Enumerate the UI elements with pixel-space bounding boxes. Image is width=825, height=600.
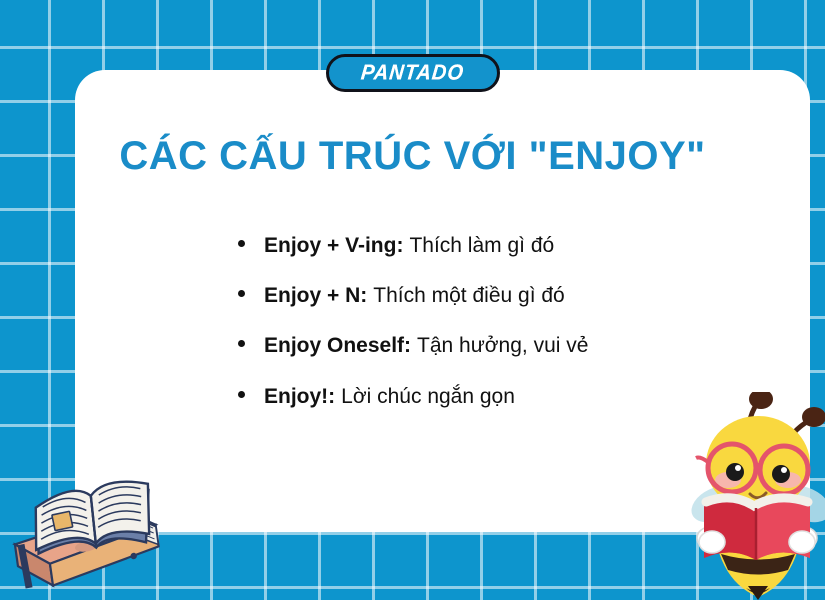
page-title: CÁC CẤU TRÚC VỚI "ENJOY"	[0, 134, 825, 179]
pantado-logo-badge[interactable]: PANTADO	[326, 54, 500, 92]
list-item: Enjoy!: Lời chúc ngắn gọn	[238, 384, 588, 409]
list-item-description: Thích một điều gì đó	[373, 283, 564, 308]
list-item-term: Enjoy + V-ing:	[264, 233, 403, 258]
bullet-dot-icon	[238, 240, 245, 247]
bullet-dot-icon	[238, 290, 245, 297]
pantado-logo-text: PANTADO	[360, 61, 466, 86]
list-item: Enjoy Oneself: Tận hưởng, vui vẻ	[238, 333, 588, 358]
structure-list: Enjoy + V-ing: Thích làm gì đó Enjoy + N…	[238, 233, 588, 434]
list-item-term: Enjoy + N:	[264, 283, 367, 308]
bee-reading-book-icon	[688, 392, 825, 600]
list-item-term: Enjoy!:	[264, 384, 335, 409]
list-item-description: Lời chúc ngắn gọn	[341, 384, 515, 409]
list-item-description: Tận hưởng, vui vẻ	[417, 333, 588, 358]
stack-of-books-icon	[8, 452, 173, 597]
list-item-description: Thích làm gì đó	[409, 233, 554, 258]
list-item: Enjoy + V-ing: Thích làm gì đó	[238, 233, 588, 258]
list-item: Enjoy + N: Thích một điều gì đó	[238, 283, 588, 308]
bullet-dot-icon	[238, 340, 245, 347]
list-item-term: Enjoy Oneself:	[264, 333, 411, 358]
bullet-dot-icon	[238, 391, 245, 398]
